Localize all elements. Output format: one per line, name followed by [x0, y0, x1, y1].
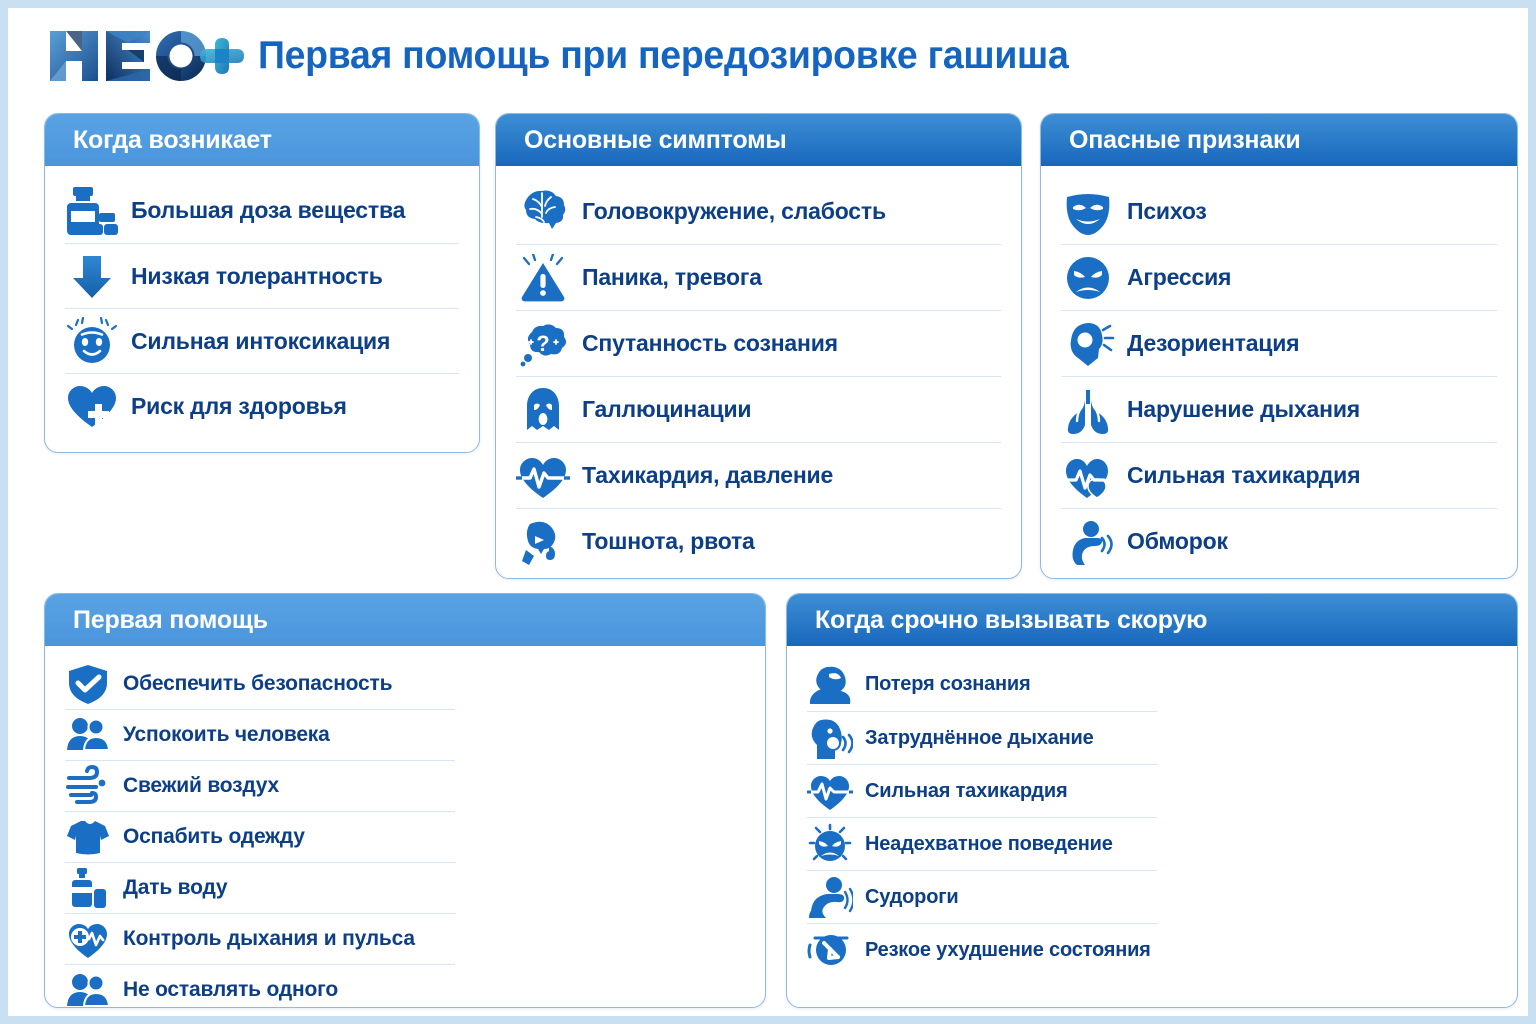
seizure-person-icon	[807, 876, 853, 918]
list-item[interactable]: Оспабить одежду	[65, 811, 455, 862]
down-arrow-icon	[65, 252, 119, 300]
list-item-label: Большая доза вещества	[131, 197, 405, 224]
unconscious-head-icon	[807, 664, 853, 706]
card-item-list: Психоз Агрессия Д	[1041, 166, 1517, 579]
card-title: Опасные признаки	[1041, 114, 1517, 166]
list-item-label: Дезориентация	[1127, 330, 1299, 357]
svg-text:?: ?	[536, 331, 549, 356]
list-item[interactable]: Паника, тревога	[516, 244, 1001, 310]
water-bottle-icon	[65, 867, 111, 909]
neo-plus-logo	[44, 23, 244, 89]
list-item-label: Судороги	[865, 886, 958, 909]
card-title: Когда срочно вызывать скорую	[787, 594, 1517, 646]
card-title: Первая помощь	[45, 594, 765, 646]
heart-monitor-icon	[65, 918, 111, 960]
list-item[interactable]: Психоз	[1061, 178, 1497, 244]
list-item-label: Психоз	[1127, 198, 1207, 225]
list-item[interactable]: Риск для здоровья	[65, 373, 459, 438]
list-item[interactable]: Низкая толерантность	[65, 243, 459, 308]
list-item-label: Неадехватное поведение	[865, 833, 1113, 856]
list-item[interactable]: Судороги	[807, 870, 1157, 923]
list-item[interactable]: Неадехватное поведение	[807, 817, 1157, 870]
card-title: Когда возникает	[45, 114, 479, 166]
list-item-label: Сильная тахикардия	[865, 780, 1067, 803]
list-item[interactable]: Потеря сознания	[807, 658, 1157, 711]
two-people-icon	[65, 969, 111, 1008]
list-item-label: Обеспечить безопасность	[123, 672, 392, 696]
head-pin-icon	[1061, 320, 1115, 368]
list-item[interactable]: Головокружение, слабость	[516, 178, 1001, 244]
list-item[interactable]: Тошнота, рвота	[516, 508, 1001, 574]
card-main-symptoms: Основные симптомы Головокружение, слабос…	[495, 113, 1022, 579]
thought-question-icon: ?	[516, 320, 570, 368]
vomiting-head-icon	[516, 518, 570, 566]
heart-pulse-icon	[516, 452, 570, 500]
list-item[interactable]: Обеспечить безопасность	[65, 658, 455, 709]
card-first-aid: Первая помощь Обеспечить безопасность Ус…	[44, 593, 766, 1008]
list-item-label: Оспабить одежду	[123, 825, 305, 849]
list-item[interactable]: Успокоить человека	[65, 709, 455, 760]
angry-alarm-face-icon	[807, 823, 853, 865]
two-people-icon	[65, 714, 111, 756]
warning-triangle-icon	[516, 254, 570, 302]
evil-mask-icon	[1061, 187, 1115, 235]
list-item-label: Головокружение, слабость	[582, 198, 886, 225]
list-item-label: Свежий воздух	[123, 774, 279, 798]
list-item[interactable]: Сильная интоксикация	[65, 308, 459, 373]
list-item[interactable]: Дать воду	[65, 862, 455, 913]
list-item-label: Сильная интоксикация	[131, 328, 390, 355]
fainting-person-icon	[1061, 518, 1115, 566]
list-item-label: Обморок	[1127, 528, 1228, 555]
list-item-label: Спутанность сознания	[582, 330, 838, 357]
list-item-label: Затруднённое дыхание	[865, 727, 1094, 750]
list-item-label: Галлюцинации	[582, 396, 751, 423]
card-dangerous-signs: Опасные признаки Психоз Агрессия	[1040, 113, 1518, 579]
list-item[interactable]: Затруднённое дыхание	[807, 711, 1157, 764]
card-item-list: Большая доза вещества Низкая толерантнос…	[45, 166, 479, 452]
list-item-label: Агрессия	[1127, 264, 1231, 291]
list-item[interactable]: Сильная тахикардия	[1061, 442, 1497, 508]
page-header: Первая помощь при передозировке гашиша	[8, 8, 1528, 104]
brain-icon	[516, 187, 570, 235]
list-item-label: Контроль дыхания и пульса	[123, 927, 415, 951]
dizzy-face-icon	[65, 317, 119, 365]
shield-check-icon	[65, 663, 111, 705]
list-item[interactable]: Не оставлять одного	[65, 964, 455, 1008]
list-item-label: Успокоить человека	[123, 723, 330, 747]
card-call-ambulance: Когда срочно вызывать скорую Потеря созн…	[786, 593, 1518, 1008]
ghost-icon	[516, 386, 570, 434]
list-item-label: Тошнота, рвота	[582, 528, 755, 555]
list-item[interactable]: Сильная тахикардия	[807, 764, 1157, 817]
list-item[interactable]: Большая доза вещества	[65, 178, 459, 243]
page-title: Первая помощь при передозировке гашиша	[258, 34, 1069, 78]
list-item-label: Нарушение дыхания	[1127, 396, 1360, 423]
card-title: Основные симптомы	[496, 114, 1021, 166]
heart-pulse-icon	[807, 770, 853, 812]
list-item-label: Сильная тахикардия	[1127, 462, 1360, 489]
card-item-list: Обеспечить безопасность Успокоить челове…	[45, 646, 475, 1008]
list-item-label: Паника, тревога	[582, 264, 762, 291]
heart-pulse-icon	[1061, 452, 1115, 500]
lungs-icon	[1061, 386, 1115, 434]
list-item[interactable]: Агрессия	[1061, 244, 1497, 310]
list-item-label: Потеря сознания	[865, 673, 1030, 696]
worsening-arrow-icon	[807, 929, 853, 971]
list-item-label: Резкое ухудшение состояния	[865, 939, 1151, 962]
list-item-label: Дать воду	[123, 876, 227, 900]
list-item-label: Риск для здоровья	[131, 393, 347, 420]
list-item[interactable]: Галлюцинации	[516, 376, 1001, 442]
list-item[interactable]: Обморок	[1061, 508, 1497, 574]
medicine-bottle-icon	[65, 187, 119, 235]
list-item[interactable]: Контроль дыхания и пульса	[65, 913, 455, 964]
list-item[interactable]: Резкое ухудшение состояния	[807, 923, 1157, 976]
tshirt-icon	[65, 816, 111, 858]
card-when-occurs: Когда возникает Большая доза вещества	[44, 113, 480, 453]
list-item-label: Не оставлять одного	[123, 978, 338, 1002]
heart-cross-icon	[65, 382, 119, 430]
list-item-label: Низкая толерантность	[131, 263, 383, 290]
card-item-list: Потеря сознания Затруднённое дыхание	[787, 646, 1177, 990]
list-item-label: Тахикардия, давление	[582, 462, 833, 489]
card-item-list: Головокружение, слабость Паника, тревога	[496, 166, 1021, 579]
list-item[interactable]: Свежий воздух	[65, 760, 455, 811]
breathing-head-icon	[807, 717, 853, 759]
wind-icon	[65, 765, 111, 807]
list-item[interactable]: Дезориентация	[1061, 310, 1497, 376]
list-item[interactable]: Нарушение дыхания	[1061, 376, 1497, 442]
angry-face-icon	[1061, 254, 1115, 302]
list-item[interactable]: Тахикардия, давление	[516, 442, 1001, 508]
list-item[interactable]: ? Спутанность сознания	[516, 310, 1001, 376]
infographic-page: Первая помощь при передозировке гашиша К…	[8, 8, 1528, 1016]
